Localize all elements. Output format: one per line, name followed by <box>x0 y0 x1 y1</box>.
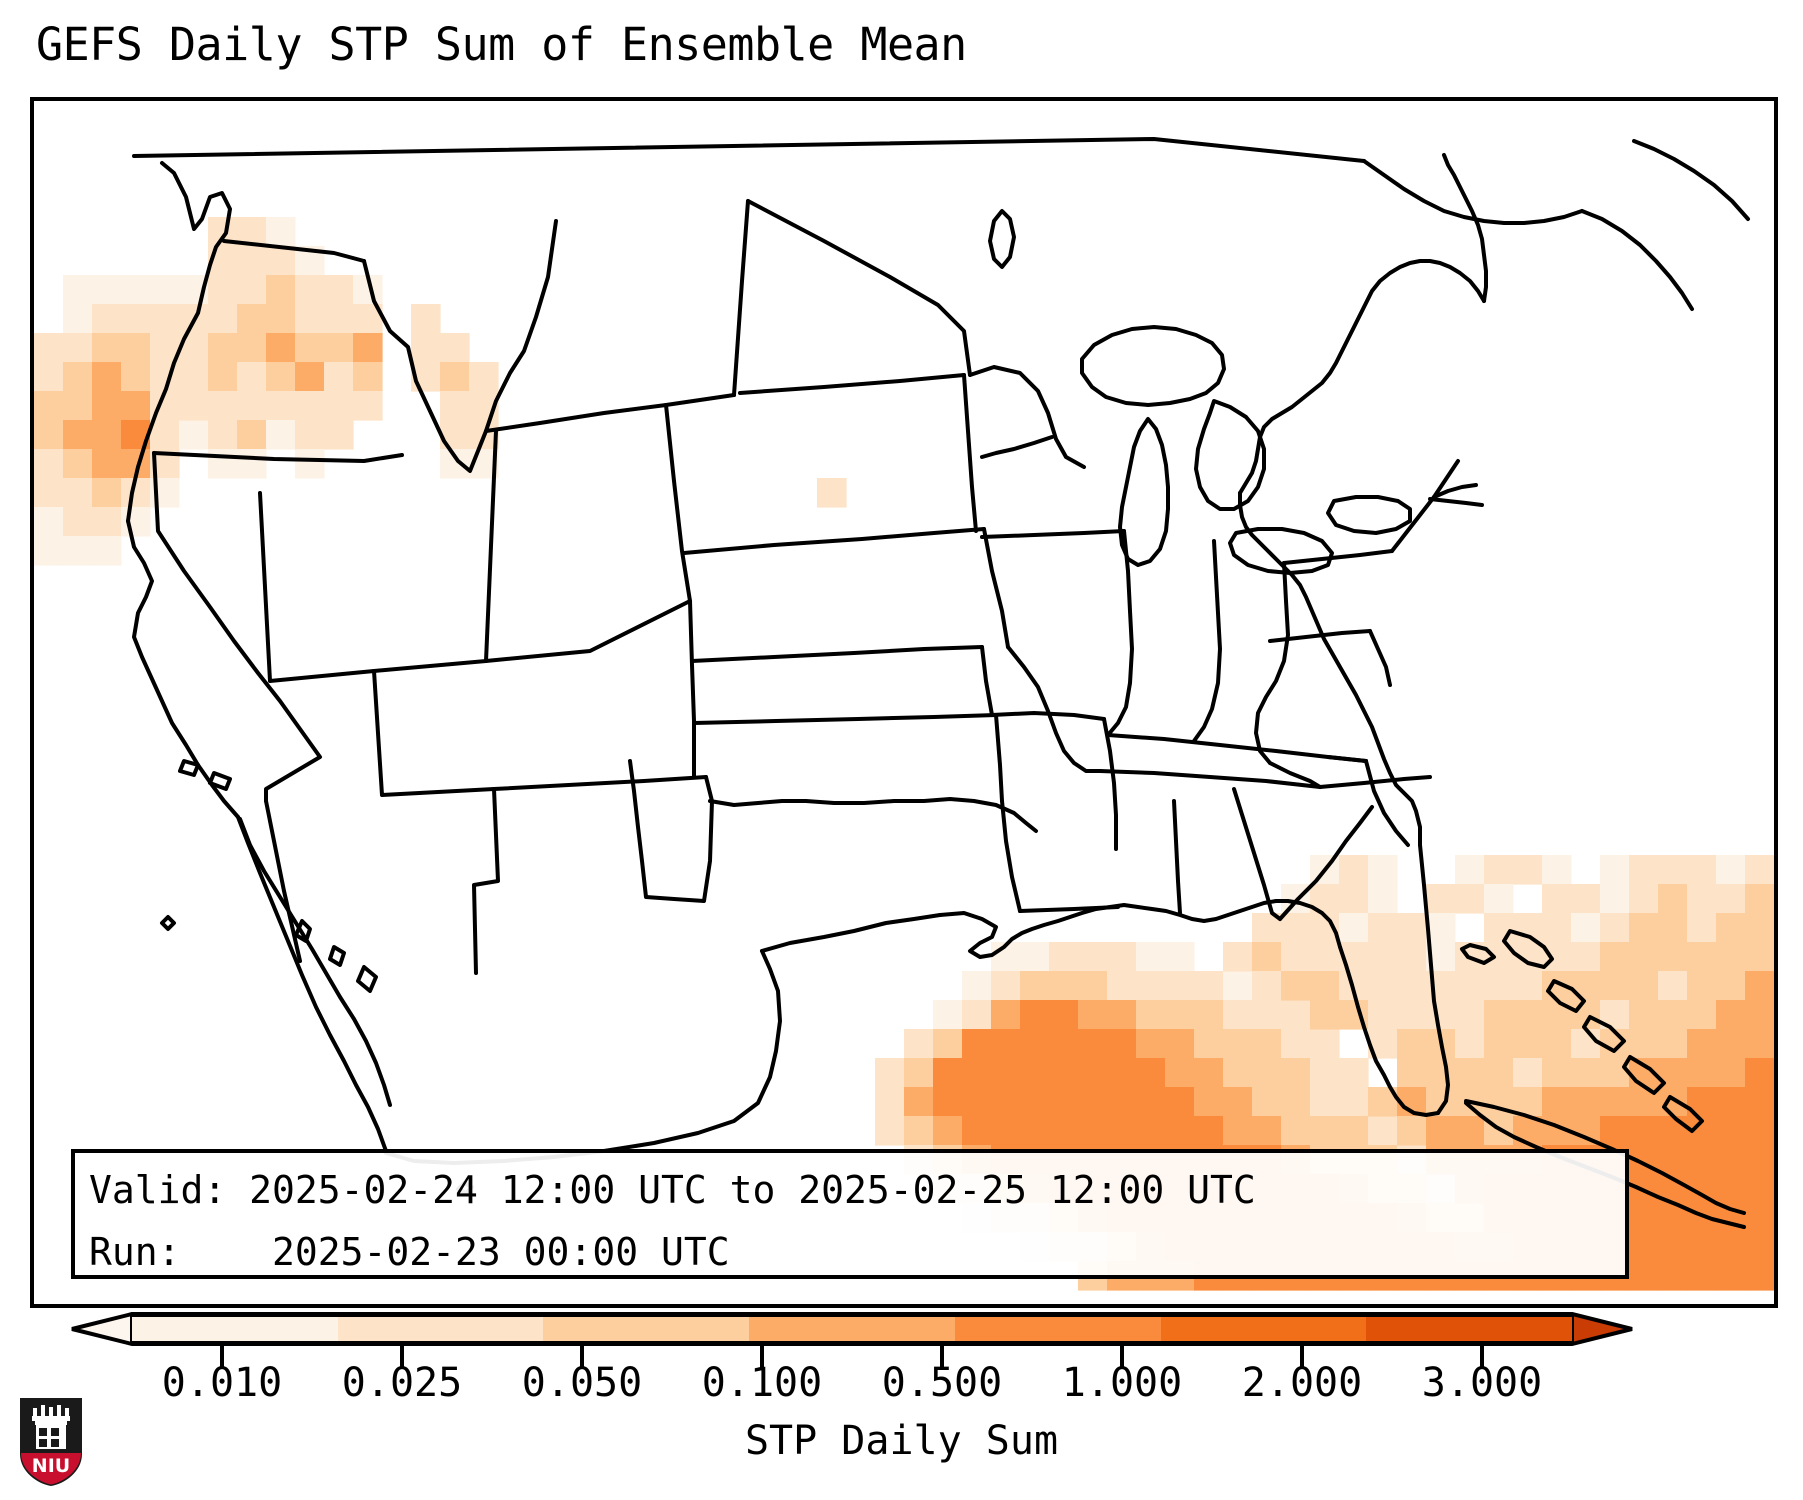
map-panel[interactable]: Valid: 2025-02-24 12:00 UTC to 2025-02-2… <box>30 97 1778 1308</box>
state-border-co-top <box>486 601 690 661</box>
niu-logo: NIU <box>18 1396 84 1488</box>
state-border-id-mt <box>364 221 556 471</box>
state-border-ma-ct <box>1430 499 1482 505</box>
state-border-sd-mn-ia <box>964 375 976 531</box>
colorbar-band-3 <box>749 1317 955 1341</box>
newfoundland-edge <box>1634 141 1748 219</box>
coast-baja-gulf <box>240 819 390 1105</box>
state-border-ks-ok <box>694 715 996 723</box>
state-border-la-ms-top <box>1020 907 1118 911</box>
colorbar-tick-label-5: 1.000 <box>1062 1360 1182 1406</box>
island-channel-1 <box>180 761 198 775</box>
coast-mexico-gulf <box>386 951 780 1163</box>
state-border-md-de <box>1370 631 1390 685</box>
colorbar-band-1 <box>338 1317 544 1341</box>
coast-gulf-usa <box>940 901 1340 957</box>
colorbar-extend-right-icon <box>1572 1312 1634 1346</box>
colorbar-axis-label: STP Daily Sum <box>0 1418 1803 1464</box>
state-border-wy-mt <box>486 395 734 431</box>
coast-florida-west <box>1340 947 1438 1115</box>
colorbar-tick-label-7: 3.000 <box>1422 1360 1542 1406</box>
lake-ontario <box>1328 497 1410 533</box>
colorbar-tick-labels: 0.0100.0250.0500.1000.5001.0002.0003.000 <box>0 1360 1803 1412</box>
state-border-az-nm-v <box>474 789 498 973</box>
state-border-ok-ar <box>996 715 1002 801</box>
state-border-nd-mn <box>748 201 970 375</box>
info-box: Valid: 2025-02-24 12:00 UTC to 2025-02-2… <box>71 1149 1629 1279</box>
state-border-mt-nd <box>734 201 748 395</box>
state-border-nd-sd <box>740 375 964 393</box>
state-border-ks-mo <box>982 647 992 715</box>
state-border-nv-ut <box>260 493 374 681</box>
state-border-sc-ga <box>1280 807 1372 919</box>
info-valid-line: Valid: 2025-02-24 12:00 UTC to 2025-02-2… <box>89 1159 1611 1221</box>
island-bahamas-2 <box>1462 945 1494 963</box>
state-border-ia-mo <box>982 531 1124 537</box>
state-border-sd-ne <box>684 529 984 553</box>
colorbar-tick-label-3: 0.100 <box>702 1360 822 1406</box>
island-bahamas-6 <box>1664 1097 1702 1131</box>
niu-logo-text: NIU <box>32 1455 70 1477</box>
island-bahamas-4 <box>1584 1017 1624 1051</box>
state-border-or-ca-id <box>154 453 402 461</box>
coast-pacific-northwest <box>128 163 230 521</box>
state-border-ok-tx <box>710 799 1036 831</box>
state-border-ut-az <box>374 671 494 795</box>
state-border-in-oh <box>1194 541 1220 741</box>
page-title: GEFS Daily STP Sum of Ensemble Mean <box>36 18 967 71</box>
state-border-tn-nc <box>1328 757 1366 761</box>
island-bahamas-1 <box>1504 931 1552 967</box>
colorbar-band-5 <box>1161 1317 1367 1341</box>
state-border-ne-ia-mo <box>984 529 1008 647</box>
colorbar-band-2 <box>543 1317 749 1341</box>
state-border-wa-or <box>224 241 364 261</box>
island-bahamas-5 <box>1624 1057 1664 1093</box>
colorbar-tick-label-1: 0.025 <box>342 1360 462 1406</box>
state-border-co-nm <box>494 777 706 789</box>
state-border-wi-ia-il <box>982 437 1052 457</box>
state-border-pa-ny <box>1284 551 1392 563</box>
state-border-mo-il <box>1008 647 1100 771</box>
coast-florida-east <box>1420 845 1448 1113</box>
lake-superior <box>1082 327 1224 405</box>
info-run-line: Run: 2025-02-23 00:00 UTC <box>89 1221 1611 1283</box>
state-border-nc-sc <box>1366 761 1408 845</box>
island-baja-2 <box>330 947 344 965</box>
state-border-ms-al <box>1174 801 1180 913</box>
geography-layer <box>34 101 1774 1304</box>
coast-atlantic-southeast <box>1240 493 1420 845</box>
state-border-mn-wi <box>970 367 1084 467</box>
colorbar-tick-label-0: 0.010 <box>162 1360 282 1406</box>
lake-huron <box>1196 401 1264 509</box>
state-border-ut-wy-co <box>374 431 496 671</box>
colorbar-band-4 <box>955 1317 1161 1341</box>
colorbar-tick-label-6: 2.000 <box>1242 1360 1362 1406</box>
state-border-ne-ks <box>692 647 982 661</box>
state-border-wy-sd-ne <box>666 405 690 601</box>
colorbar-tick-label-4: 0.500 <box>882 1360 1002 1406</box>
island-guadalupe <box>162 917 174 929</box>
lake-winnipeg <box>990 211 1014 267</box>
coast-texas <box>762 915 940 951</box>
nova-scotia <box>1582 211 1692 309</box>
canada-border <box>134 139 1364 161</box>
state-border-va-nc <box>1320 777 1430 787</box>
colorbar-band-6 <box>1366 1317 1572 1341</box>
coast-chesapeake <box>1240 261 1484 493</box>
state-border-il-in <box>1108 531 1132 735</box>
state-border-ar-ms <box>1104 719 1116 849</box>
colorbar-gradient[interactable] <box>132 1312 1572 1346</box>
colorbar-band-0 <box>132 1317 338 1341</box>
state-border-co-ks <box>690 601 694 777</box>
state-border-oh-wv-pa <box>1256 563 1288 763</box>
colorbar-tick-label-2: 0.050 <box>522 1360 642 1406</box>
island-baja-3 <box>358 967 376 991</box>
state-border-ca-nv-az <box>154 453 320 801</box>
island-bahamas-3 <box>1548 981 1584 1011</box>
colorbar-extend-left-icon <box>70 1312 132 1346</box>
